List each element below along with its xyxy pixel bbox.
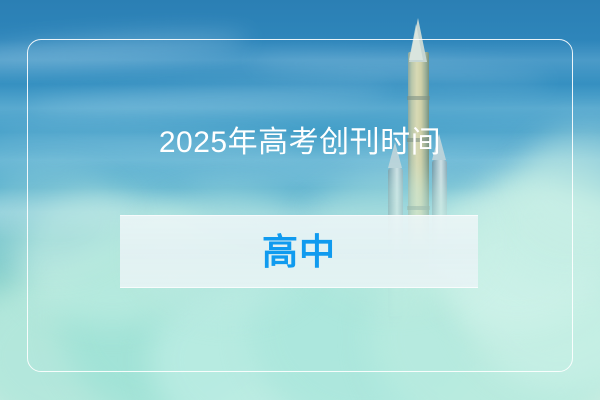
rocket-band (407, 96, 430, 100)
rocket-band (407, 206, 430, 210)
sky-haze-bands (0, 0, 600, 400)
rocket-nose-cone-highlight (409, 24, 423, 60)
exhaust-plume-main (380, 320, 432, 400)
page-title: 2025年高考创刊时间 (0, 126, 600, 160)
rocket (382, 18, 454, 348)
category-label: 高中 (262, 232, 336, 272)
banner-card: 2025年高考创刊时间 高中 (0, 0, 600, 400)
category-bar[interactable]: 高中 (120, 215, 478, 288)
